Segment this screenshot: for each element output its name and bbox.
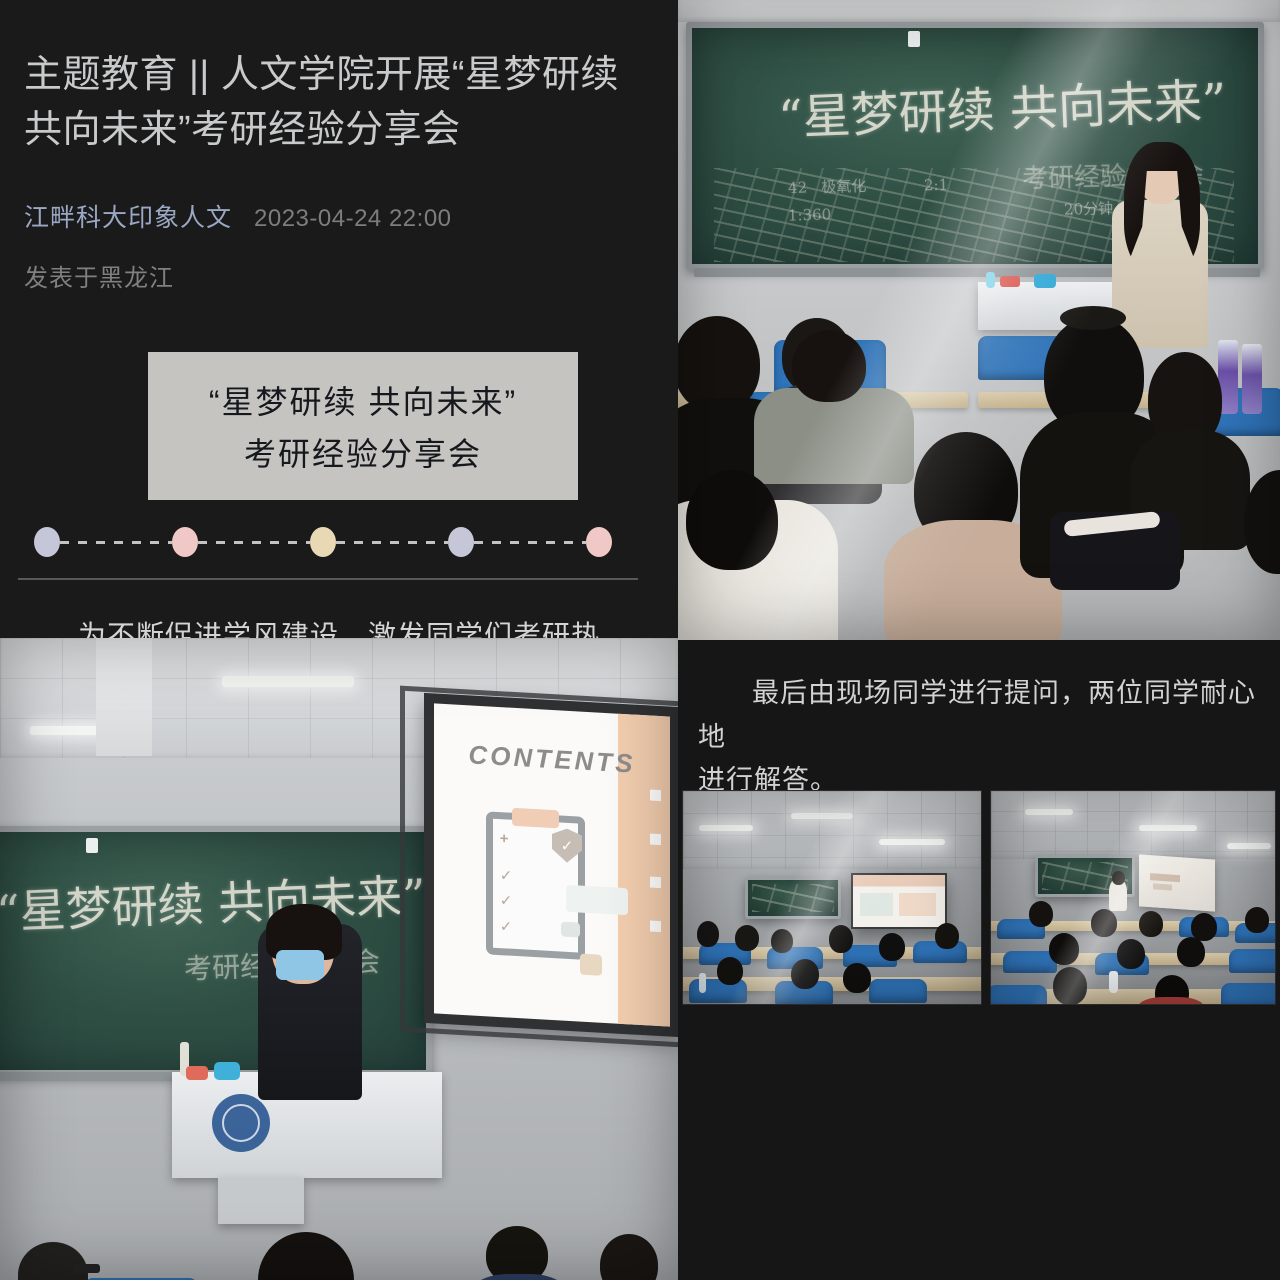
title-card-line1: “星梦研续 共向未来” — [209, 377, 517, 423]
qa-paragraph: 最后由现场同学进行提问，两位同学耐心地 进行解答。 — [698, 672, 1264, 803]
publish-timestamp: 2023-04-24 22:00 — [254, 205, 452, 233]
divider-dot — [34, 527, 60, 557]
divider-dot — [310, 527, 336, 557]
panel-article-continued: 最后由现场同学进行提问，两位同学耐心地 进行解答。 — [678, 640, 1280, 1280]
blackboard-headline: “星梦研续 共向未来” — [777, 61, 1228, 148]
divider-dash — [336, 541, 448, 544]
projection-screen — [1139, 854, 1215, 911]
divider-rule — [18, 578, 638, 580]
projection-screen — [851, 873, 947, 929]
account-name-link[interactable]: 江畔科大印象人文 — [24, 198, 232, 234]
thumbnail-photo-left — [682, 790, 982, 1005]
photo-lecture-front: “星梦研续 共向未来” 考研经验分享会 42 极氧化 1:360 2:1 20分… — [678, 0, 1280, 640]
screenshot-collage: 主题教育 || 人文学院开展“星梦研续 共向未来”考研经验分享会 江畔科大印象人… — [0, 0, 1280, 1280]
article-byline: 江畔科大印象人文 2023-04-24 22:00 — [24, 198, 654, 234]
divider-dash — [198, 541, 310, 544]
article-title-line1: 主题教育 || 人文学院开展“星梦研续 — [24, 48, 654, 103]
thumbnail-photo-right — [990, 790, 1276, 1005]
photo-speaker-slide: “星梦研续 共向未来” 考研经验分享会 CONTENTS + — [0, 638, 678, 1280]
panel-photo-lecture-front: “星梦研续 共向未来” 考研经验分享会 42 极氧化 1:360 2:1 20分… — [678, 0, 1280, 640]
divider-dot — [448, 527, 474, 557]
divider-dot — [586, 527, 612, 557]
article-title-line2: 共向未来”考研经验分享会 — [24, 103, 654, 158]
panel-photo-speaker-slide: “星梦研续 共向未来” 考研经验分享会 CONTENTS + — [0, 638, 678, 1280]
publish-location: 发表于黑龙江 — [24, 258, 654, 293]
clipped-body-text: 为不断促进学风建设，激发同学们考研热 — [0, 614, 678, 638]
divider-dash — [60, 541, 172, 544]
article-header-block: 主题教育 || 人文学院开展“星梦研续 共向未来”考研经验分享会 江畔科大印象人… — [0, 0, 678, 293]
panel-article-header: 主题教育 || 人文学院开展“星梦研续 共向未来”考研经验分享会 江畔科大印象人… — [0, 0, 678, 638]
blackboard: “星梦研续 共向未来” 考研经验分享会 — [0, 826, 432, 1076]
divider-dot — [172, 527, 198, 557]
title-card-line2: 考研经验分享会 — [244, 429, 482, 475]
divider-dash — [474, 541, 586, 544]
blackboard-headline: “星梦研续 共向未来” — [0, 860, 427, 942]
face-mask — [276, 950, 324, 980]
glasses-icon — [74, 1264, 100, 1273]
decorative-dot-divider — [34, 527, 612, 557]
qa-line-1: 最后由现场同学进行提问，两位同学耐心地 — [698, 672, 1264, 759]
title-card-image: “星梦研续 共向未来” 考研经验分享会 — [148, 352, 578, 500]
